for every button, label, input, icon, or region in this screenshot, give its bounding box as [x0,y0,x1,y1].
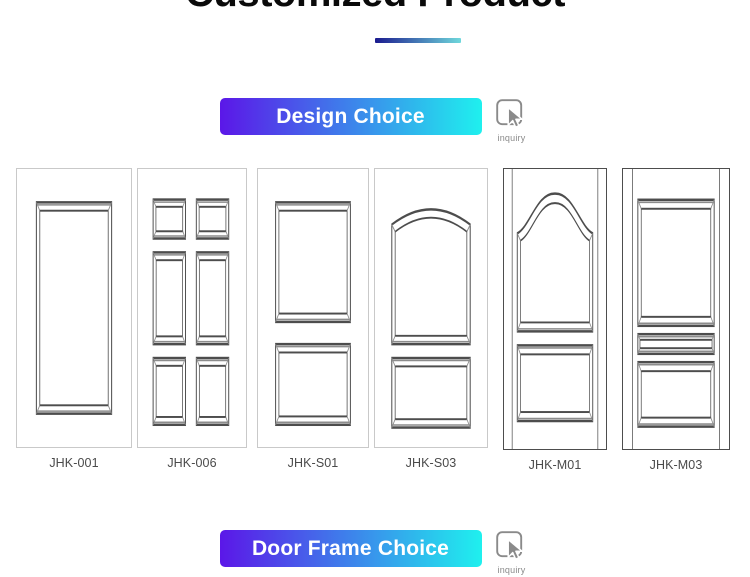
door-code-label: JHK-001 [16,456,132,470]
title-underline-accent [375,38,461,43]
door-image[interactable] [257,168,369,448]
design-choice-inquiry-button[interactable]: inquiry [493,98,531,143]
inquiry-label: inquiry [498,134,526,143]
door-code-label: JHK-M03 [622,458,730,472]
page-title: Customized Product [0,0,750,16]
door-image[interactable] [137,168,247,448]
door-image[interactable] [622,168,730,450]
door-code-label: JHK-S03 [374,456,488,470]
door-code-label: JHK-M01 [503,458,607,472]
cursor-arrow-icon [495,98,528,131]
door-image[interactable] [16,168,132,448]
door-code-label: JHK-006 [137,456,247,470]
door-design-grid: JHK-001 [0,168,750,468]
cursor-arrow-icon [495,530,528,563]
inquiry-label: inquiry [498,566,526,575]
door-code-label: JHK-S01 [257,456,369,470]
customized-product-page: Customized Product Design Choice inquiry… [0,0,750,577]
door-frame-choice-button[interactable]: Door Frame Choice [220,530,482,567]
design-choice-row: Design Choice inquiry [0,98,750,143]
design-choice-button[interactable]: Design Choice [220,98,482,135]
door-frame-choice-row: Door Frame Choice inquiry [0,530,750,575]
door-frame-choice-inquiry-button[interactable]: inquiry [493,530,531,575]
door-image[interactable] [374,168,488,448]
door-image[interactable] [503,168,607,450]
